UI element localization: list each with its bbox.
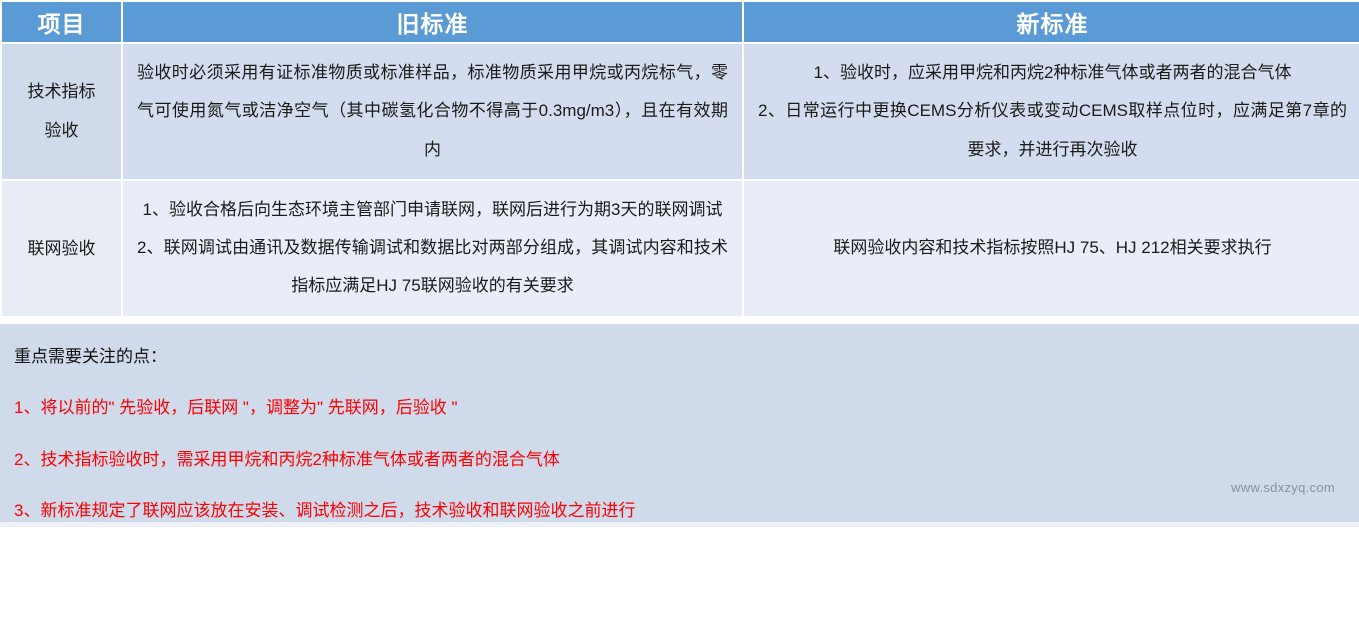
paragraph: 2、联网调试由通讯及数据传输调试和数据比对两部分组成，其调试内容和技术指标应满足…	[137, 229, 728, 306]
row-label-line-1: 联网验收	[6, 229, 117, 268]
key-points-panel: 重点需要关注的点： 1、将以前的" 先验收，后联网 "，调整为" 先联网，后验收…	[0, 324, 1359, 527]
key-point-item-3: 3、新标准规定了联网应该放在安装、调试检测之后，技术验收和联网验收之前进行	[14, 498, 1345, 524]
table-header: 项目 旧标准 新标准	[2, 2, 1359, 42]
key-point-item-2: 2、技术指标验收时，需采用甲烷和丙烷2种标准气体或者两者的混合气体	[14, 447, 1345, 473]
cell-new-standard-technical: 1、验收时，应采用甲烷和丙烷2种标准气体或者两者的混合气体 2、日常运行中更换C…	[744, 44, 1359, 179]
paragraph: 验收时必须采用有证标准物质或标准样品，标准物质采用甲烷或丙烷标气，零气可使用氮气…	[137, 54, 728, 169]
row-label-line-2: 验收	[6, 111, 117, 150]
paragraph: 1、验收时，应采用甲烷和丙烷2种标准气体或者两者的混合气体	[758, 54, 1347, 92]
bottom-strip	[0, 522, 1359, 527]
cell-old-standard-network: 1、验收合格后向生态环境主管部门申请联网，联网后进行为期3天的联网调试 2、联网…	[123, 181, 742, 316]
row-label-line-1: 技术指标	[6, 72, 117, 111]
cell-old-standard-technical: 验收时必须采用有证标准物质或标准样品，标准物质采用甲烷或丙烷标气，零气可使用氮气…	[123, 44, 742, 179]
table-row: 技术指标 验收 验收时必须采用有证标准物质或标准样品，标准物质采用甲烷或丙烷标气…	[2, 44, 1359, 179]
table-body: 技术指标 验收 验收时必须采用有证标准物质或标准样品，标准物质采用甲烷或丙烷标气…	[2, 44, 1359, 316]
paragraph: 1、验收合格后向生态环境主管部门申请联网，联网后进行为期3天的联网调试	[137, 191, 728, 229]
header-cell-new-standard: 新标准	[744, 2, 1359, 42]
comparison-table-page: 项目 旧标准 新标准 技术指标 验收 验收时必须采用有证标准物质或标准样品，标准…	[0, 0, 1359, 623]
key-points-title: 重点需要关注的点：	[14, 344, 1345, 370]
row-label-network-acceptance: 联网验收	[2, 181, 121, 316]
cell-new-standard-network: 联网验收内容和技术指标按照HJ 75、HJ 212相关要求执行	[744, 181, 1359, 316]
paragraph: 2、日常运行中更换CEMS分析仪表或变动CEMS取样点位时，应满足第7章的要求，…	[758, 92, 1347, 169]
row-label-technical-acceptance: 技术指标 验收	[2, 44, 121, 179]
header-cell-old-standard: 旧标准	[123, 2, 742, 42]
header-row: 项目 旧标准 新标准	[2, 2, 1359, 42]
paragraph: 联网验收内容和技术指标按照HJ 75、HJ 212相关要求执行	[758, 229, 1347, 267]
key-point-item-1: 1、将以前的" 先验收，后联网 "，调整为" 先联网，后验收 "	[14, 395, 1345, 421]
site-watermark: www.sdxzyq.com	[1231, 480, 1335, 495]
standards-comparison-table: 项目 旧标准 新标准 技术指标 验收 验收时必须采用有证标准物质或标准样品，标准…	[0, 0, 1359, 318]
table-row: 联网验收 1、验收合格后向生态环境主管部门申请联网，联网后进行为期3天的联网调试…	[2, 181, 1359, 316]
header-cell-item: 项目	[2, 2, 121, 42]
